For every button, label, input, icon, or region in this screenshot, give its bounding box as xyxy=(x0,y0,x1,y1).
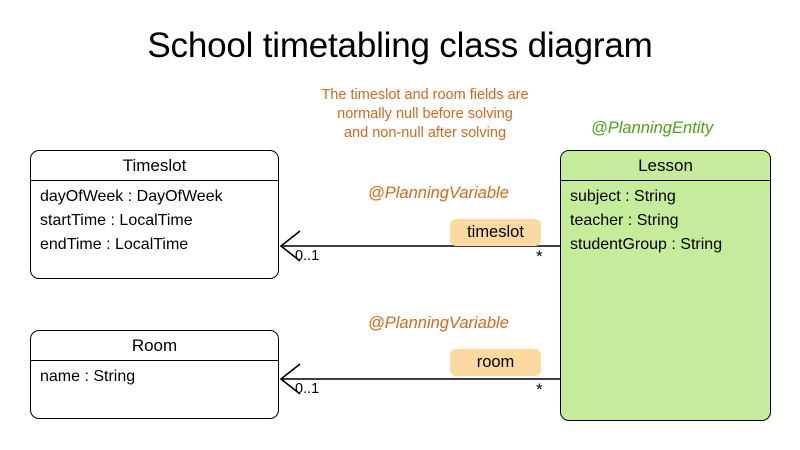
role-badge-room[interactable]: room xyxy=(450,349,541,376)
diagram-note: The timeslot and room fields are normall… xyxy=(270,86,580,143)
class-field: subject : String xyxy=(570,185,770,209)
class-box-room[interactable]: Room name : String xyxy=(30,330,279,419)
class-name-timeslot: Timeslot xyxy=(31,151,278,181)
multiplicity-lesson-source-room: * xyxy=(536,380,543,400)
multiplicity-room-target: 0..1 xyxy=(295,381,319,397)
diagram-note-line-2: normally null before solving xyxy=(270,105,580,124)
class-field: studentGroup : String xyxy=(570,233,770,257)
role-badge-timeslot[interactable]: timeslot xyxy=(450,219,541,246)
class-fields-room: name : String xyxy=(31,361,278,393)
stereotype-planning-variable-timeslot: @PlanningVariable xyxy=(368,184,509,203)
multiplicity-lesson-source-timeslot: * xyxy=(536,247,543,267)
class-box-timeslot[interactable]: Timeslot dayOfWeek : DayOfWeek startTime… xyxy=(30,150,279,279)
class-fields-lesson: subject : String teacher : String studen… xyxy=(561,181,770,261)
class-field: startTime : LocalTime xyxy=(40,209,278,233)
page-title: School timetabling class diagram xyxy=(0,26,800,66)
stereotype-planning-variable-room: @PlanningVariable xyxy=(368,314,509,333)
class-name-lesson: Lesson xyxy=(561,151,770,181)
class-field: name : String xyxy=(40,365,278,389)
diagram-note-line-3: and non-null after solving xyxy=(270,124,580,143)
class-field: endTime : LocalTime xyxy=(40,233,278,257)
stereotype-planning-entity: @PlanningEntity xyxy=(591,119,713,138)
class-name-room: Room xyxy=(31,331,278,361)
multiplicity-timeslot-target: 0..1 xyxy=(295,248,319,264)
class-box-lesson[interactable]: Lesson subject : String teacher : String… xyxy=(560,150,771,421)
class-diagram-canvas: School timetabling class diagram The tim… xyxy=(0,0,800,450)
class-field: teacher : String xyxy=(570,209,770,233)
diagram-note-line-1: The timeslot and room fields are xyxy=(270,86,580,105)
class-field: dayOfWeek : DayOfWeek xyxy=(40,185,278,209)
class-fields-timeslot: dayOfWeek : DayOfWeek startTime : LocalT… xyxy=(31,181,278,261)
